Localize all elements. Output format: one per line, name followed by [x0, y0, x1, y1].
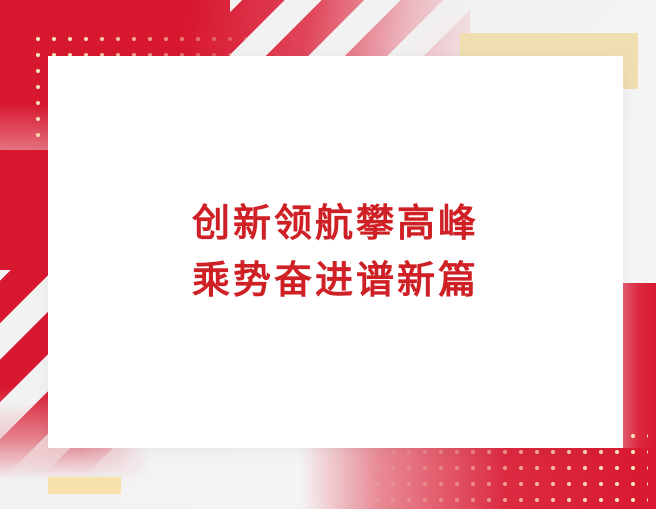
title-line-1: 创新领航攀高峰: [192, 195, 479, 252]
content-card: 创新领航攀高峰 乘势奋进谱新篇: [48, 56, 623, 448]
title-line-2: 乘势奋进谱新篇: [192, 252, 479, 309]
red-bottom-block: [300, 448, 656, 509]
page-title: 创新领航攀高峰 乘势奋进谱新篇: [192, 195, 479, 309]
poster-canvas: 创新领航攀高峰 乘势奋进谱新篇: [0, 0, 656, 509]
gold-corner-accent-top-bar: [460, 33, 638, 56]
gold-bar-accent-bottom: [48, 477, 121, 494]
